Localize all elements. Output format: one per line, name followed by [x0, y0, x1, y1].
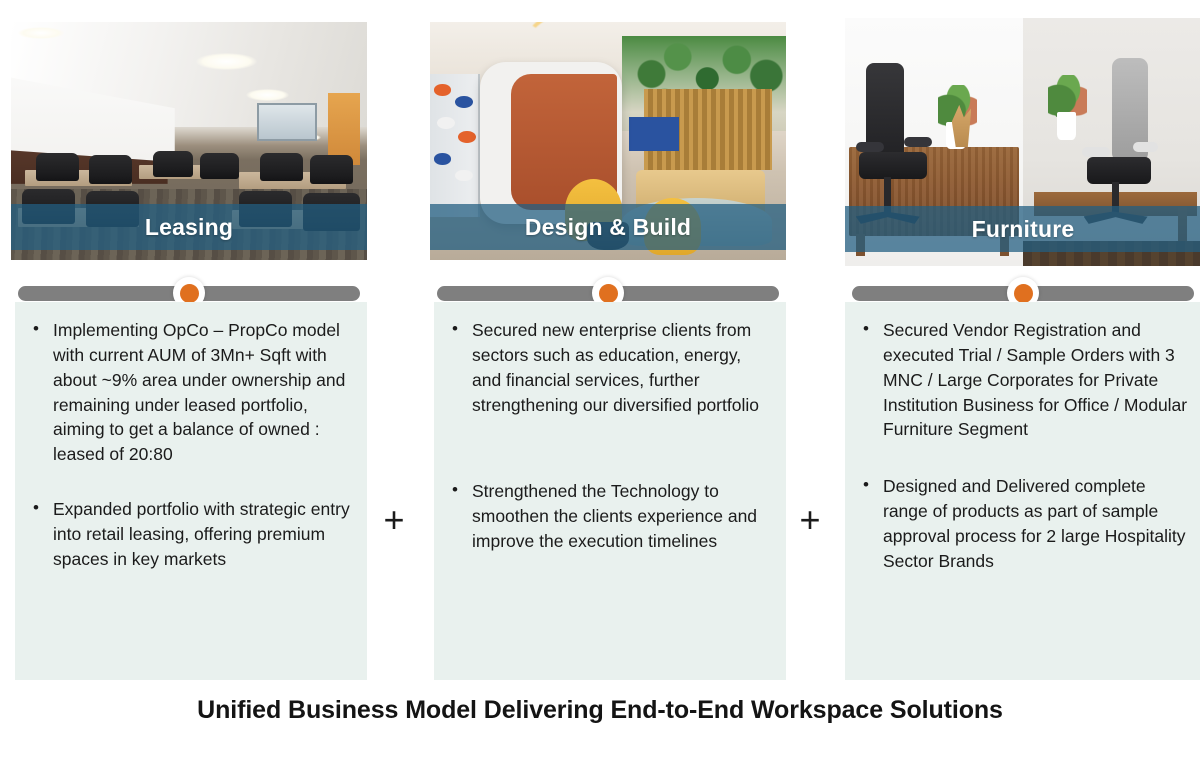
banner-label-furniture: Furniture	[972, 216, 1075, 243]
banner-furniture: Furniture	[845, 206, 1200, 252]
list-item: Implementing OpCo – PropCo model with cu…	[27, 318, 355, 467]
plus-separator-one: +	[374, 500, 414, 540]
photo-card-design-build: Design & Build	[430, 22, 786, 260]
list-item: Strengthened the Technology to smoothen …	[446, 479, 774, 554]
photo-card-leasing: Leasing	[11, 22, 367, 260]
bullet-list-design-build: Secured new enterprise clients from sect…	[446, 318, 774, 554]
connector-design-build	[437, 286, 779, 301]
slide-canvas: Leasing Implementing OpCo – PropCo model…	[0, 0, 1200, 762]
banner-leasing: Leasing	[11, 204, 367, 250]
bullet-list-furniture: Secured Vendor Registration and executed…	[857, 318, 1189, 574]
column-design-build: Design & Build Secured new enterprise cl…	[430, 0, 786, 682]
content-card-leasing: Implementing OpCo – PropCo model with cu…	[15, 302, 367, 680]
list-item: Expanded portfolio with strategic entry …	[27, 497, 355, 572]
content-card-design-build: Secured new enterprise clients from sect…	[434, 302, 786, 680]
list-item: Secured Vendor Registration and executed…	[857, 318, 1189, 442]
content-card-furniture: Secured Vendor Registration and executed…	[845, 302, 1200, 680]
bullet-list-leasing: Implementing OpCo – PropCo model with cu…	[27, 318, 355, 572]
footer-caption: Unified Business Model Delivering End-to…	[0, 696, 1200, 725]
connector-leasing	[18, 286, 360, 301]
photo-card-furniture: Furniture	[845, 18, 1200, 266]
three-column-section: Leasing Implementing OpCo – PropCo model…	[0, 0, 1200, 682]
list-item: Designed and Delivered complete range of…	[857, 474, 1189, 573]
banner-design-build: Design & Build	[430, 204, 786, 250]
list-item: Secured new enterprise clients from sect…	[446, 318, 774, 417]
banner-label-design-build: Design & Build	[525, 214, 691, 241]
connector-furniture	[852, 286, 1194, 301]
plus-separator-two: +	[790, 500, 830, 540]
column-furniture: Furniture Secured Vendor Registration an…	[845, 0, 1200, 682]
banner-label-leasing: Leasing	[145, 214, 233, 241]
column-leasing: Leasing Implementing OpCo – PropCo model…	[11, 0, 367, 682]
